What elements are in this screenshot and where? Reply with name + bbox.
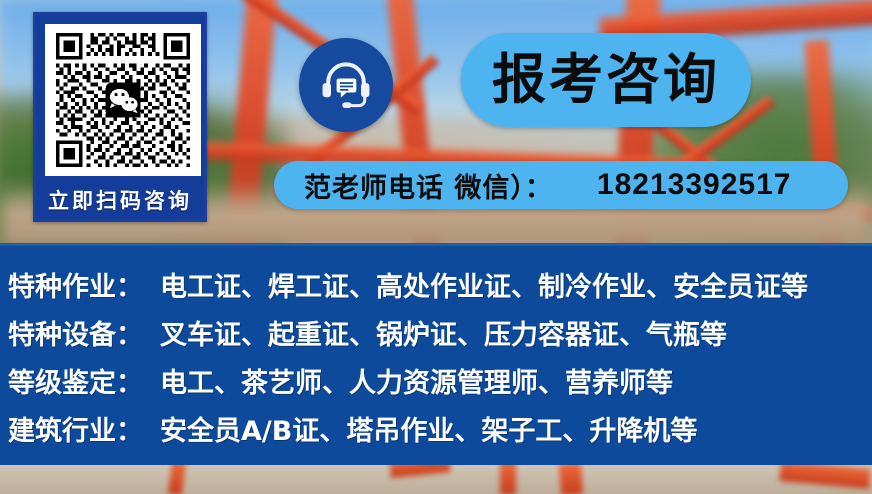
service-items-label: 安全员A/B证、塔吊作业、架子工、升降机等 <box>160 409 697 448</box>
qr-code-icon <box>52 29 194 171</box>
qr-code-card[interactable]: 立即扫码咨询 <box>33 12 207 222</box>
service-items-label: 叉车证、起重证、锅炉证、压力容器证、气瓶等 <box>160 313 727 352</box>
service-category-label: 建筑行业： <box>8 409 160 448</box>
footer-photo-strip <box>0 465 872 494</box>
service-category-label: 特种设备： <box>8 313 160 352</box>
service-items-label: 电工证、焊工证、高处作业证、制冷作业、安全员证等 <box>160 265 808 304</box>
footer-beam-1 <box>168 465 187 494</box>
support-badge[interactable] <box>299 38 393 132</box>
promo-poster: 立即扫码咨询 报考咨询 范老师电话 微信）： 1821339 <box>0 0 872 494</box>
phone-number[interactable]: 18213392517 <box>597 168 792 202</box>
headset-support-icon <box>316 55 376 115</box>
service-items-label: 电工、茶艺师、人力资源管理师、营养师等 <box>160 361 673 400</box>
service-category-label: 特种作业： <box>8 265 160 304</box>
contact-label: 范老师电话 微信）： <box>304 166 553 205</box>
contact-phone-pill[interactable]: 范老师电话 微信）： 18213392517 <box>274 161 848 209</box>
service-row: 建筑行业： 安全员A/B证、塔吊作业、架子工、升降机等 <box>8 409 872 457</box>
footer-beam-3 <box>500 465 516 494</box>
service-row: 特种设备： 叉车证、起重证、锅炉证、压力容器证、气瓶等 <box>8 313 872 361</box>
service-category-label: 等级鉴定： <box>8 361 160 400</box>
footer-beam-4 <box>559 465 583 494</box>
qr-code-frame <box>45 24 201 176</box>
services-panel: 特种作业： 电工证、焊工证、高处作业证、制冷作业、安全员证等 特种设备： 叉车证… <box>0 243 872 465</box>
qr-caption: 立即扫码咨询 <box>36 185 204 215</box>
consult-title-text: 报考咨询 <box>492 53 720 107</box>
footer-beam-5 <box>779 465 870 489</box>
footer-beam-2 <box>389 465 450 478</box>
service-row: 特种作业： 电工证、焊工证、高处作业证、制冷作业、安全员证等 <box>8 265 872 313</box>
service-row: 等级鉴定： 电工、茶艺师、人力资源管理师、营养师等 <box>8 361 872 409</box>
consult-title-pill[interactable]: 报考咨询 <box>461 33 751 127</box>
